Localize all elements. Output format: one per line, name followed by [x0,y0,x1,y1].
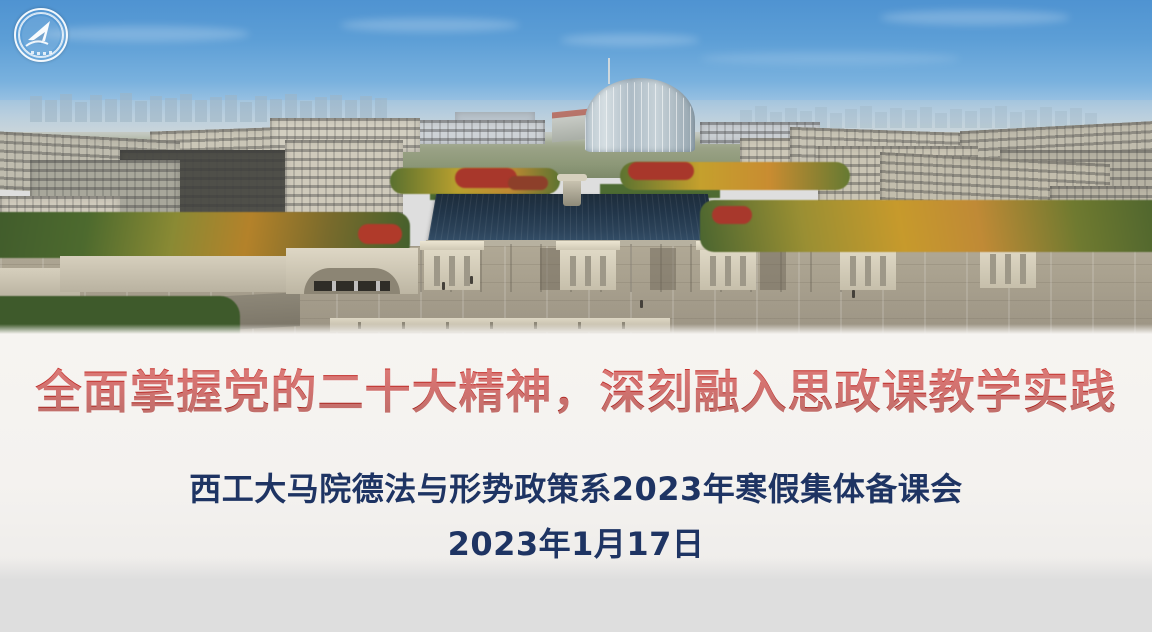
red-foliage [628,162,694,180]
colonnade-pavilion [840,246,896,290]
event-date: 2023年1月17日 [0,519,1152,565]
fountain-sculpture [563,178,581,206]
campus-photo-banner [0,0,1152,334]
presentation-slide: 全面掌握党的二十大精神，深刻融入思政课教学实践 西工大马院德法与形势政策系202… [0,0,1152,632]
pedestrian [640,300,643,308]
logo-emblem-icon [14,8,68,62]
red-foliage [712,206,752,224]
cloud [700,52,960,65]
autumn-trees [700,200,1152,252]
arched-gateway [286,248,418,294]
distant-building [415,120,545,144]
photo-bottom-fade [0,324,1152,334]
red-foliage [358,224,402,244]
event-subtitle: 西工大马院德法与形势政策系2023年寒假集体备课会 [0,464,1152,510]
title-panel: 全面掌握党的二十大精神，深刻融入思政课教学实践 西工大马院德法与形势政策系202… [0,334,1152,580]
footer-bar [0,580,1152,632]
colonnade-pavilion [700,246,756,290]
colonnade-pavilion [560,246,616,290]
pedestrian [470,276,473,284]
cloud [340,18,520,32]
pedestrian [852,290,855,298]
paving-strip [760,248,786,290]
university-logo [14,8,68,62]
paving-strip [650,248,676,290]
cloud [560,34,700,46]
pedestrian [442,282,445,290]
cloud [40,26,250,42]
red-foliage [508,176,548,190]
page-title: 全面掌握党的二十大精神，深刻融入思政课教学实践 [0,356,1152,422]
cloud [880,10,1070,25]
tower-mast [608,58,610,84]
